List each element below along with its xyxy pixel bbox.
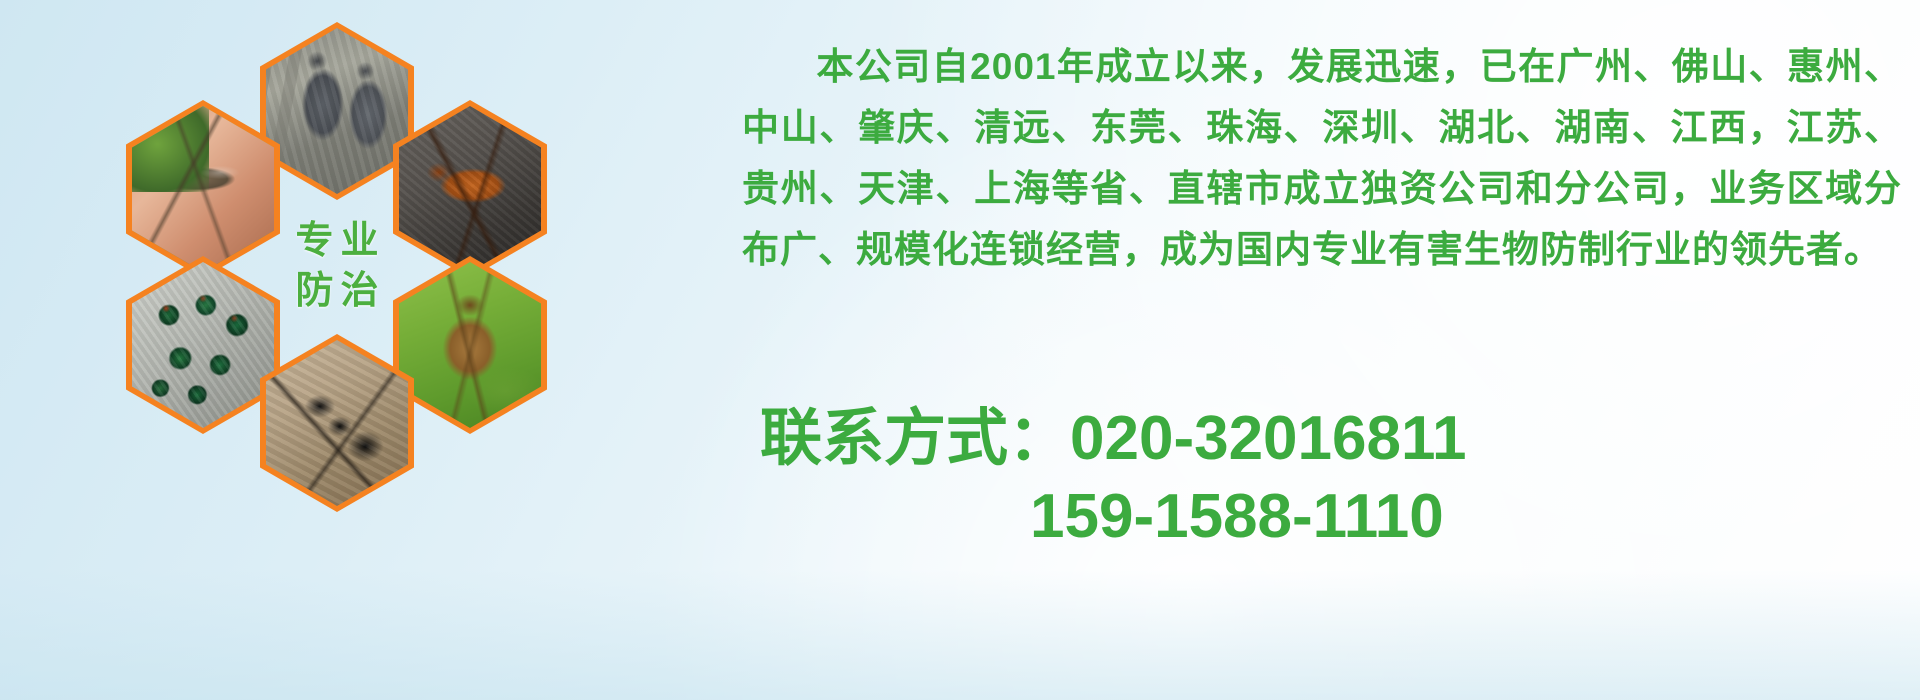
contact-line-secondary[interactable]: 159-1588-1110 bbox=[760, 478, 1760, 556]
ant-image-art bbox=[266, 340, 408, 506]
stinkbug-image-art bbox=[399, 262, 541, 428]
stinkbug-photo bbox=[393, 256, 547, 434]
badge-line-2: 防治 bbox=[288, 272, 385, 312]
badge-professional-control: 专业 防治 bbox=[260, 178, 414, 356]
contact-block: 联系方式：020-32016811 159-1588-1110 bbox=[760, 400, 1760, 556]
mosquito-photo bbox=[126, 100, 280, 278]
rats-image-art bbox=[266, 28, 408, 194]
flies-photo bbox=[126, 256, 280, 434]
cockroach-photo bbox=[393, 100, 547, 278]
badge-line-1: 专业 bbox=[288, 222, 385, 262]
company-intro: 本公司自2001年成立以来，发展迅速，已在广州、佛山、惠州、中山、肇庆、清远、东… bbox=[742, 36, 1902, 280]
rats-photo bbox=[260, 22, 414, 200]
company-intro-paragraph: 本公司自2001年成立以来，发展迅速，已在广州、佛山、惠州、中山、肇庆、清远、东… bbox=[742, 36, 1902, 280]
mosquito-image-art bbox=[132, 106, 274, 272]
flies-image-art bbox=[132, 262, 274, 428]
cockroach-image-art bbox=[399, 106, 541, 272]
ant-photo bbox=[260, 334, 414, 512]
promotional-banner: 专业 防治 本公司自2001年成立以来，发展迅速，已在广州、佛山、惠州、中山、肇… bbox=[0, 0, 1920, 700]
company-intro-text: 本公司自2001年成立以来，发展迅速，已在广州、佛山、惠州、中山、肇庆、清远、东… bbox=[742, 46, 1902, 270]
hexagon-photo-cluster: 专业 防治 bbox=[88, 8, 588, 568]
contact-line-primary[interactable]: 联系方式：020-32016811 bbox=[760, 400, 1760, 478]
